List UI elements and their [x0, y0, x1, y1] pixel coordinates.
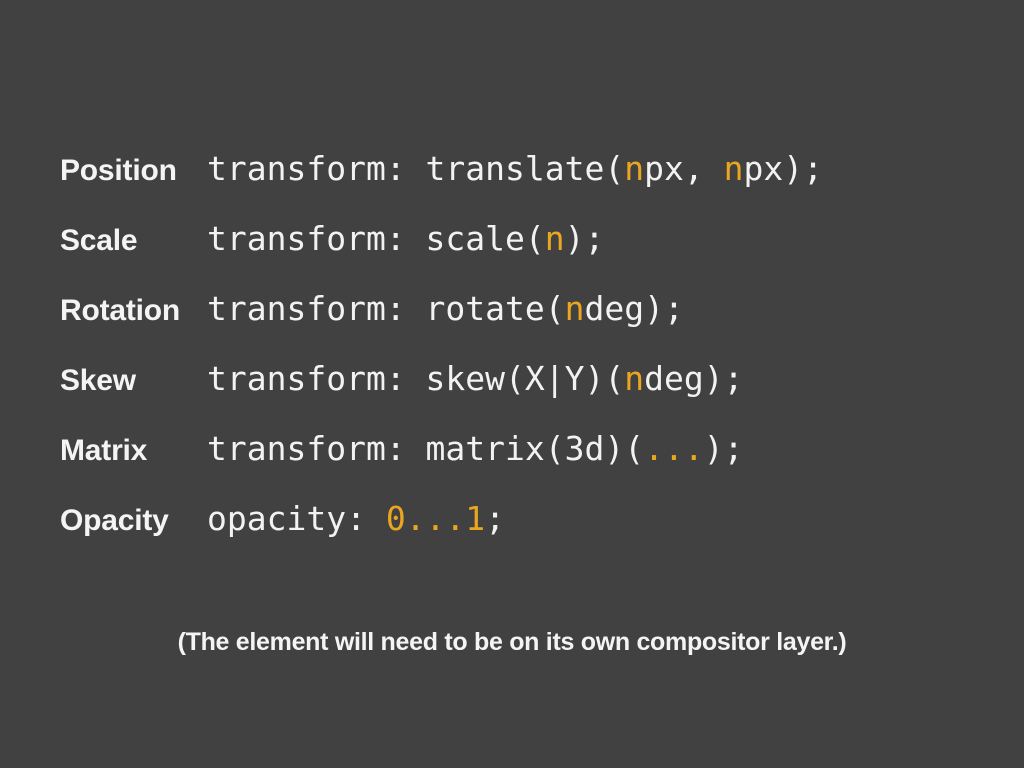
- property-code-snippet: transform: skew(X|Y)(ndeg);: [207, 344, 1024, 414]
- code-token-literal: transform: matrix(3d)(: [207, 429, 644, 468]
- code-token-variable: n: [624, 359, 644, 398]
- property-row: Matrixtransform: matrix(3d)(...);: [0, 414, 1024, 484]
- slide-canvas: Positiontransform: translate(npx, npx);S…: [0, 0, 1024, 768]
- footnote-text: (The element will need to be on its own …: [0, 620, 1024, 664]
- code-token-variable: n: [724, 149, 744, 188]
- code-token-literal: transform: scale(: [207, 219, 545, 258]
- property-row: Positiontransform: translate(npx, npx);: [0, 134, 1024, 204]
- code-token-variable: n: [545, 219, 565, 258]
- code-token-variable: n: [565, 289, 585, 328]
- property-row: Skewtransform: skew(X|Y)(ndeg);: [0, 344, 1024, 414]
- property-label: Scale: [0, 206, 207, 276]
- property-label: Opacity: [0, 486, 207, 556]
- code-token-variable: ...: [644, 429, 704, 468]
- property-code-snippet: transform: matrix(3d)(...);: [207, 414, 1024, 484]
- property-label: Matrix: [0, 416, 207, 486]
- property-row: Opacityopacity: 0...1;: [0, 484, 1024, 554]
- property-table: Positiontransform: translate(npx, npx);S…: [0, 134, 1024, 554]
- property-code-snippet: transform: translate(npx, npx);: [207, 134, 1024, 204]
- code-token-variable: 0...1: [386, 499, 485, 538]
- property-row: Rotationtransform: rotate(ndeg);: [0, 274, 1024, 344]
- property-label: Skew: [0, 346, 207, 416]
- code-token-variable: n: [624, 149, 644, 188]
- code-token-literal: transform: skew(X|Y)(: [207, 359, 624, 398]
- code-token-literal: transform: rotate(: [207, 289, 565, 328]
- code-token-literal: opacity:: [207, 499, 386, 538]
- code-token-literal: transform: translate(: [207, 149, 624, 188]
- code-token-literal: px);: [743, 149, 822, 188]
- code-token-literal: deg);: [644, 359, 743, 398]
- property-row: Scaletransform: scale(n);: [0, 204, 1024, 274]
- code-token-literal: px,: [644, 149, 723, 188]
- property-label: Position: [0, 136, 207, 206]
- code-token-literal: );: [565, 219, 605, 258]
- property-code-snippet: opacity: 0...1;: [207, 484, 1024, 554]
- property-code-snippet: transform: rotate(ndeg);: [207, 274, 1024, 344]
- property-label: Rotation: [0, 276, 207, 346]
- property-code-snippet: transform: scale(n);: [207, 204, 1024, 274]
- code-token-literal: deg);: [585, 289, 684, 328]
- code-token-literal: );: [704, 429, 744, 468]
- code-token-literal: ;: [485, 499, 505, 538]
